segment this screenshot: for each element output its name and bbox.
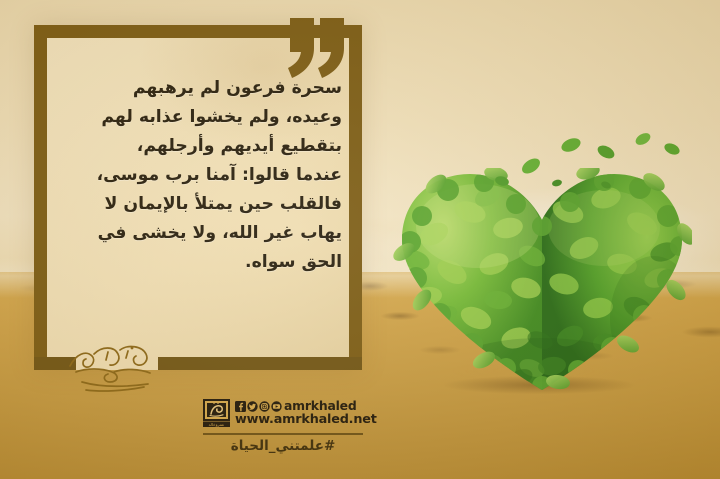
brand-url[interactable]: www.amrkhaled.net <box>235 414 377 427</box>
facebook-icon[interactable] <box>235 401 246 412</box>
flying-leaf-icon <box>600 180 612 190</box>
frame-bottom-bar-left <box>34 357 76 370</box>
quote-line: الحق سواه. <box>52 248 342 277</box>
quote-text-block: سحرة فرعون لم يرهبهم وعيده، ولم يخشوا عذ… <box>52 74 342 277</box>
brand-divider <box>203 433 363 435</box>
flying-leaf-icon <box>663 142 681 156</box>
leaf-heart-icon <box>392 168 692 398</box>
hashtag-label: #علمتني_الحياة <box>203 438 363 454</box>
twitter-icon[interactable] <box>247 401 258 412</box>
flying-leaf-icon <box>596 145 616 160</box>
quote-line: عندما قالوا: آمنا برب موسى، <box>52 161 342 190</box>
flying-leaf-icon <box>494 175 510 187</box>
quote-line: سحرة فرعون لم يرهبهم <box>52 74 342 103</box>
frame-top-bar <box>34 25 362 38</box>
frame-left-bar <box>34 25 47 370</box>
instagram-icon[interactable] <box>259 401 270 412</box>
svg-text:عمروخالد: عمروخالد <box>209 422 225 427</box>
flying-leaf-icon <box>560 137 582 153</box>
quote-line: وعيده، ولم يخشوا عذابه لهم <box>52 103 342 132</box>
quote-card: سحرة فرعون لم يرهبهم وعيده، ولم يخشوا عذ… <box>0 0 720 479</box>
flying-leaf-icon <box>634 132 652 146</box>
frame-bottom-bar-right <box>158 357 362 370</box>
frame-right-bar <box>349 25 362 370</box>
brand-block[interactable]: عمروخالد <box>203 399 377 427</box>
flying-leaf-icon <box>551 178 563 188</box>
brand-text-lines: amrkhaled www.amrkhaled.net <box>235 400 377 427</box>
youtube-icon[interactable] <box>271 401 282 412</box>
social-icons-row[interactable]: amrkhaled <box>235 400 377 413</box>
quote-line: فالقلب حين يمتلأ بالإيمان لا <box>52 190 342 219</box>
brand-handle[interactable]: amrkhaled <box>284 400 357 412</box>
amrkhaled-logo-icon[interactable]: عمروخالد <box>203 399 230 427</box>
flying-leaf-icon <box>520 158 542 174</box>
quote-line: يهاب غير الله، ولا يخشى في <box>52 219 342 248</box>
quote-line: بتقطيع أيديهم وأرجلهم، <box>52 132 342 161</box>
leaf-heart-artwork <box>392 168 692 398</box>
